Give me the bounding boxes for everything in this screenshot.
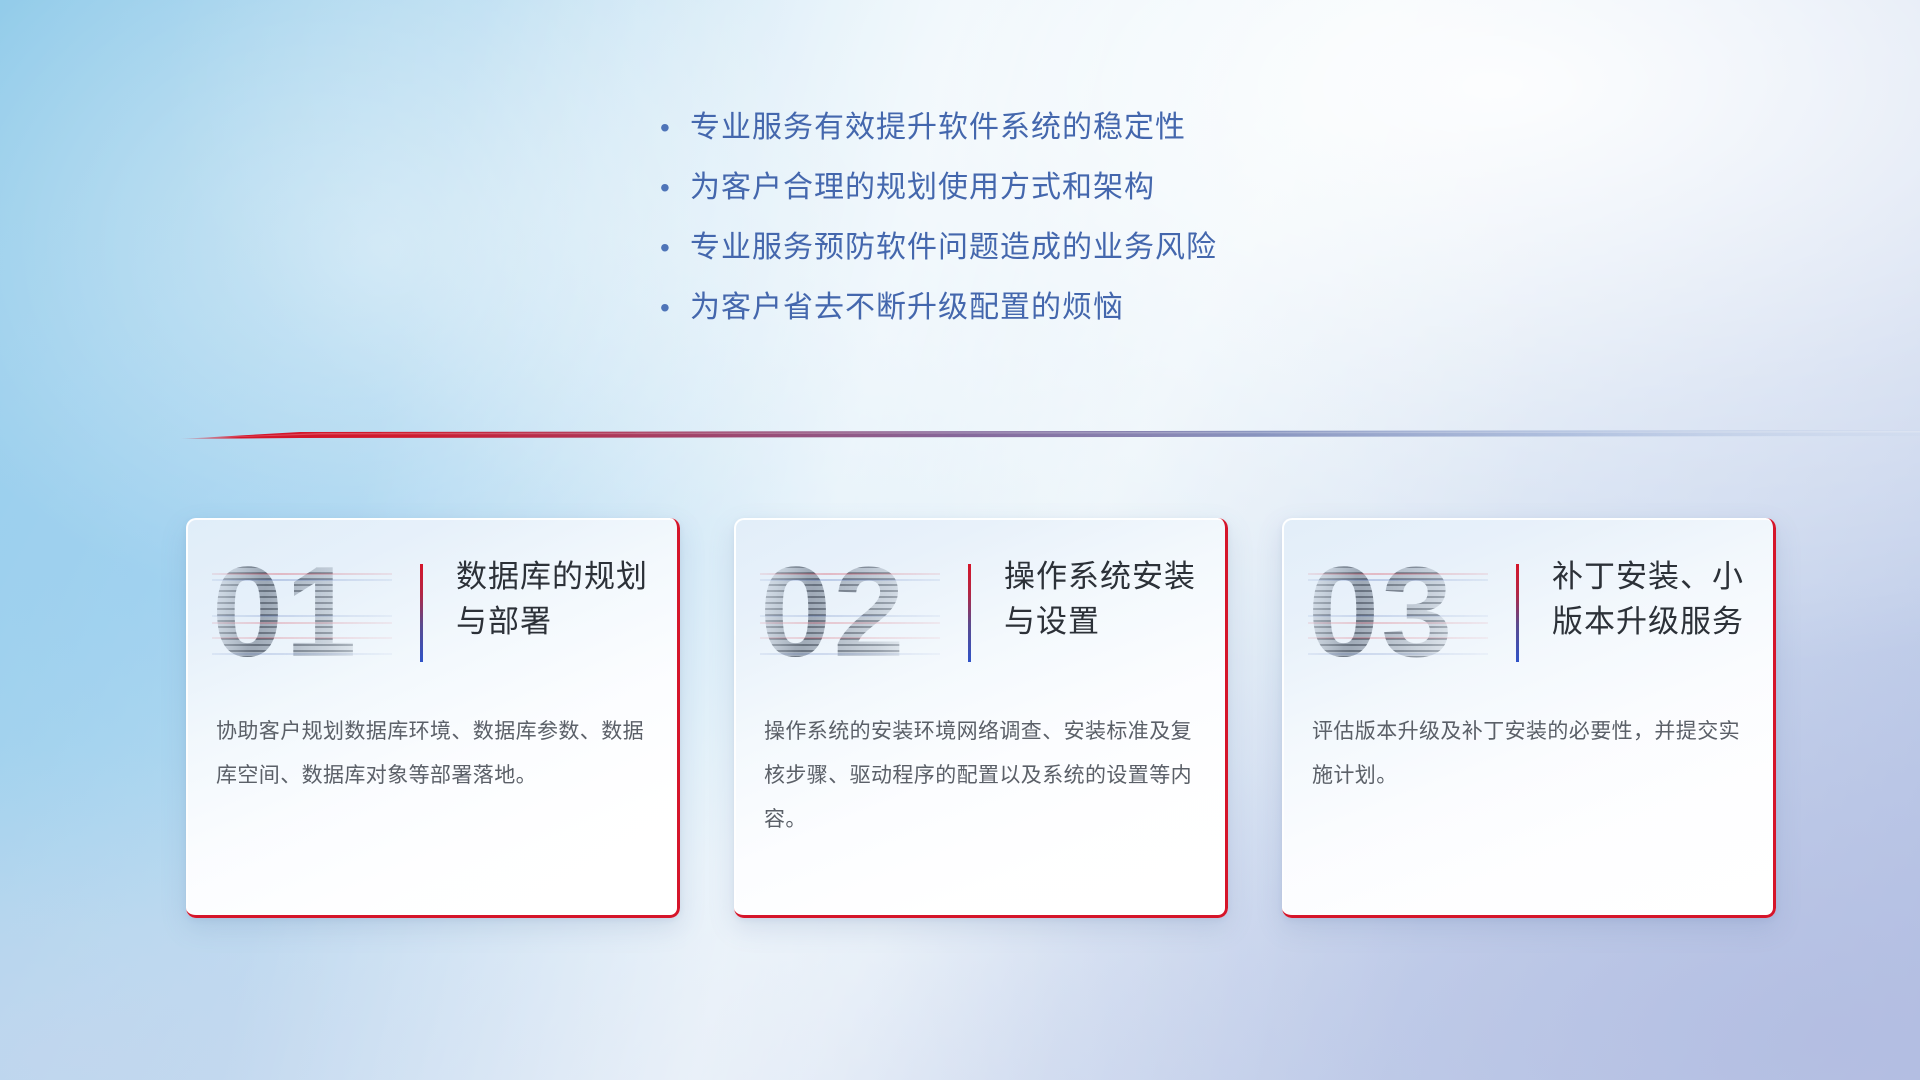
- bullet-marker-icon: •: [660, 168, 690, 208]
- bullet-marker-icon: •: [660, 288, 690, 328]
- card-body-text: 操作系统的安装环境网络调查、安装标准及复核步骤、驱动程序的配置以及系统的设置等内…: [764, 710, 1204, 842]
- service-card[interactable]: 01 数据库的规划与部署 协助客户规划数据库环境、数据库参数、数据库空间、数据库…: [186, 518, 680, 918]
- list-item: • 为客户合理的规划使用方式和架构: [660, 168, 1217, 208]
- bullet-text: 为客户省去不断升级配置的烦恼: [690, 288, 1124, 328]
- bullet-text: 专业服务预防软件问题造成的业务风险: [690, 228, 1217, 268]
- card-body-text: 协助客户规划数据库环境、数据库参数、数据库空间、数据库对象等部署落地。: [216, 710, 656, 798]
- bullet-text: 专业服务有效提升软件系统的稳定性: [690, 108, 1186, 148]
- card-title: 数据库的规划与部署: [456, 554, 656, 644]
- card-number-scanline-overlay: [760, 548, 940, 678]
- list-item: • 专业服务有效提升软件系统的稳定性: [660, 108, 1217, 148]
- bullet-marker-icon: •: [660, 108, 690, 148]
- service-card[interactable]: 03 补丁安装、小版本升级服务 评估版本升级及补丁安装的必要性，并提交实施计划。: [1282, 518, 1776, 918]
- card-title-rule: [420, 564, 423, 662]
- benefits-bullet-list: • 专业服务有效提升软件系统的稳定性 • 为客户合理的规划使用方式和架构 • 专…: [660, 108, 1217, 348]
- bullet-marker-icon: •: [660, 228, 690, 268]
- bullet-text: 为客户合理的规划使用方式和架构: [690, 168, 1155, 208]
- card-number-watermark: 03: [1308, 548, 1488, 678]
- list-item: • 专业服务预防软件问题造成的业务风险: [660, 228, 1217, 268]
- service-card-group: 01 数据库的规划与部署 协助客户规划数据库环境、数据库参数、数据库空间、数据库…: [0, 518, 1920, 918]
- card-title-rule: [968, 564, 971, 662]
- card-number-scanline-overlay: [1308, 548, 1488, 678]
- card-number-watermark: 01: [212, 548, 392, 678]
- slide-canvas: • 专业服务有效提升软件系统的稳定性 • 为客户合理的规划使用方式和架构 • 专…: [0, 0, 1920, 1080]
- card-title-rule: [1516, 564, 1519, 662]
- card-number-watermark: 02: [760, 548, 940, 678]
- card-title: 补丁安装、小版本升级服务: [1552, 554, 1752, 644]
- card-title: 操作系统安装与设置: [1004, 554, 1204, 644]
- service-card[interactable]: 02 操作系统安装与设置 操作系统的安装环境网络调查、安装标准及复核步骤、驱动程…: [734, 518, 1228, 918]
- section-divider: [0, 418, 1920, 444]
- card-number-scanline-overlay: [212, 548, 392, 678]
- list-item: • 为客户省去不断升级配置的烦恼: [660, 288, 1217, 328]
- card-body-text: 评估版本升级及补丁安装的必要性，并提交实施计划。: [1312, 710, 1752, 798]
